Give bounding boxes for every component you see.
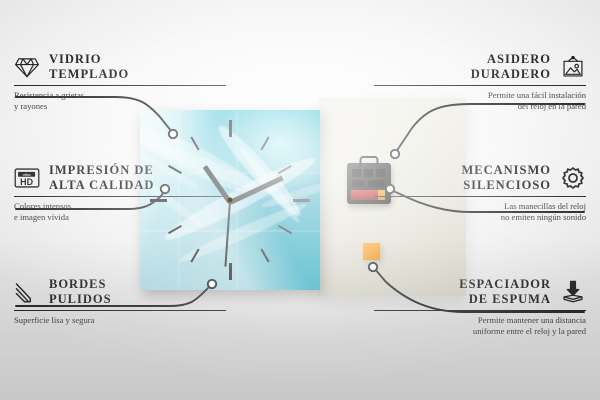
divider bbox=[14, 310, 226, 311]
feature-title: ESPACIADOR DE ESPUMA bbox=[459, 277, 551, 306]
feature-asidero-duradero: ASIDERO DURADERO Permite una fácil insta… bbox=[374, 52, 586, 112]
feature-espaciador-de-espuma: ESPACIADOR DE ESPUMA Permite mantener un… bbox=[374, 277, 586, 337]
feature-description: Las manecillas del reloj no emiten ningú… bbox=[374, 201, 586, 222]
ultra-hd-icon: ultra HD bbox=[14, 166, 40, 190]
clock-tick bbox=[229, 120, 232, 137]
divider bbox=[14, 196, 226, 197]
feature-description: Permite mantener una distancia uniforme … bbox=[374, 315, 586, 336]
hand-hub bbox=[228, 198, 233, 203]
feature-title: VIDRIO TEMPLADO bbox=[49, 52, 129, 81]
foam-spacer bbox=[363, 243, 380, 260]
svg-text:HD: HD bbox=[20, 176, 33, 186]
feature-vidrio-templado: VIDRIO TEMPLADO Resistencia a grietas y … bbox=[14, 52, 226, 112]
diamond-icon bbox=[14, 55, 40, 79]
divider bbox=[14, 85, 226, 86]
gear-icon bbox=[560, 166, 586, 190]
feature-title: IMPRESIÓN DE ALTA CALIDAD bbox=[49, 163, 154, 192]
feature-mecanismo-silencioso: MECANISMO SILENCIOSO Las manecillas del … bbox=[374, 163, 586, 223]
feature-title: ASIDERO DURADERO bbox=[471, 52, 551, 81]
feature-description: Resistencia a grietas y rayones bbox=[14, 90, 226, 111]
feature-title: BORDES PULIDOS bbox=[49, 277, 112, 306]
divider bbox=[374, 310, 586, 311]
divider bbox=[374, 196, 586, 197]
hanging-frame-icon bbox=[560, 55, 586, 79]
clock-tick bbox=[293, 199, 310, 202]
feature-description: Permite una fácil instalación del reloj … bbox=[374, 90, 586, 111]
feature-description: Superficie lisa y segura bbox=[14, 315, 226, 326]
down-arrow-pad-icon bbox=[560, 280, 586, 304]
clock-tick bbox=[229, 263, 232, 280]
infographic-canvas: VIDRIO TEMPLADO Resistencia a grietas y … bbox=[0, 0, 600, 400]
feature-description: Colores intensos e imagen vívida bbox=[14, 201, 226, 222]
feature-title: MECANISMO SILENCIOSO bbox=[461, 163, 551, 192]
feature-impresion-alta-calidad: ultra HD IMPRESIÓN DE ALTA CALIDAD Color… bbox=[14, 163, 226, 223]
divider bbox=[374, 85, 586, 86]
polished-edges-icon bbox=[14, 280, 40, 304]
feature-bordes-pulidos: BORDES PULIDOS Superficie lisa y segura bbox=[14, 277, 226, 326]
